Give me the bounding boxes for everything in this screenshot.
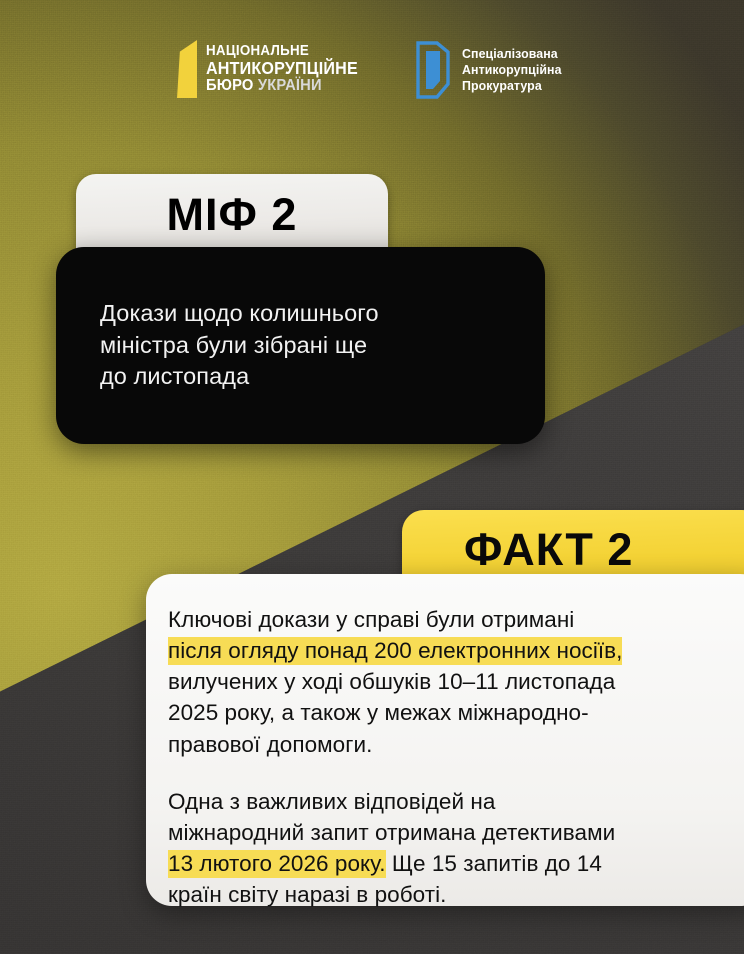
fact-paragraph-2: Одна з важливих відповідей на міжнародни… [168,786,744,911]
fact-tab-label: ФАКТ 2 [464,524,633,576]
fact-p1-highlight-1: після огляду понад 200 електронних носії… [168,637,622,665]
sap-logo-line-3: Прокуратура [462,78,562,94]
myth-card: Докази щодо колишнього міністра були зіб… [56,247,545,444]
nabu-flag-mark-icon [177,40,197,98]
fact-paragraph-1: Ключові докази у справі були отримані пі… [168,604,744,760]
nabu-logo: НАЦІОНАЛЬНЕ АНТИКОРУПЦІЙНЕ БЮРО УКРАЇНИ [177,40,371,98]
sap-shield-mark-icon [415,40,453,100]
nabu-logo-line-2: АНТИКОРУПЦІЙНЕ [206,60,358,78]
sap-logo-line-2: Антикорупційна [462,62,562,78]
nabu-logo-line-3-bold: БЮРО [206,77,254,94]
nabu-logo-line-3: БЮРО УКРАЇНИ [206,78,358,94]
fact-p2-highlight-1: 13 лютого 2026 року. [168,850,386,878]
sap-logo: Спеціалізована Антикорупційна Прокуратур… [415,40,567,100]
sap-logo-line-1: Спеціалізована [462,46,562,62]
fact-p2-part-1: Одна з важливих відповідей на міжнародни… [168,789,615,845]
fact-p1-part-1: Ключові докази у справі були отримані [168,607,574,632]
nabu-logo-line-1: НАЦІОНАЛЬНЕ [206,44,358,59]
myth-body-text: Докази щодо колишнього міністра були зіб… [56,298,423,394]
header-logos: НАЦІОНАЛЬНЕ АНТИКОРУПЦІЙНЕ БЮРО УКРАЇНИ … [0,40,744,100]
fact-p1-part-2: вилучених у ході обшуків 10–11 листопада… [168,669,615,756]
myth-tab: МІФ 2 [76,174,388,258]
nabu-logo-line-3-light: УКРАЇНИ [258,77,322,94]
nabu-logo-text: НАЦІОНАЛЬНЕ АНТИКОРУПЦІЙНЕ БЮРО УКРАЇНИ [206,44,371,94]
myth-tab-label: МІФ 2 [167,189,298,241]
infographic-canvas: НАЦІОНАЛЬНЕ АНТИКОРУПЦІЙНЕ БЮРО УКРАЇНИ … [0,0,744,954]
sap-logo-text: Спеціалізована Антикорупційна Прокуратур… [462,46,567,94]
fact-card: Ключові докази у справі були отримані пі… [146,574,744,906]
